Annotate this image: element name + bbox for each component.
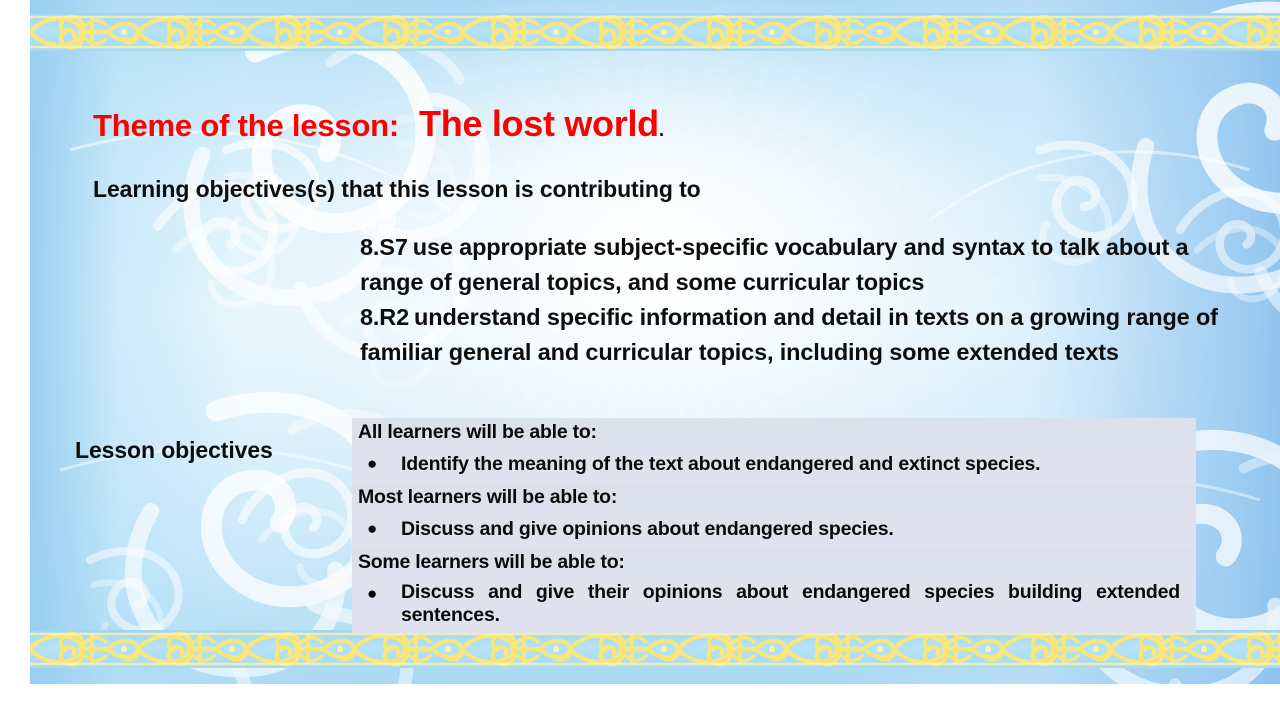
- most-learners-bullet-text: Discuss and give opinions about endanger…: [401, 516, 1180, 542]
- curriculum-objective-2-code: 8.R2: [360, 304, 409, 330]
- table-row-all-learners-heading: All learners will be able to:: [352, 418, 1196, 447]
- some-learners-bullet-row: ● Discuss and give their opinions about …: [358, 578, 1190, 631]
- theme-label: Theme of the lesson:: [93, 108, 399, 143]
- lesson-objectives-table: All learners will be able to: ● Identify…: [352, 418, 1196, 633]
- bullet-icon: ●: [358, 516, 401, 542]
- bullet-icon: ●: [358, 451, 401, 477]
- table-row-all-learners-bullet: ● Identify the meaning of the text about…: [352, 447, 1196, 483]
- theme-of-the-lesson-line: Theme of the lesson:The lost world.: [93, 103, 664, 145]
- curriculum-objective-1-text: use appropriate subject-specific vocabul…: [360, 234, 1188, 295]
- curriculum-objective-1-code: 8.S7: [360, 234, 408, 260]
- all-learners-heading: All learners will be able to:: [358, 419, 1190, 445]
- curriculum-objective-1: 8.S7use appropriate subject-specific voc…: [360, 230, 1244, 300]
- bullet-icon: ●: [358, 581, 401, 607]
- curriculum-objectives-block: 8.S7use appropriate subject-specific voc…: [360, 230, 1244, 370]
- curriculum-objective-2: 8.R2understand specific information and …: [360, 300, 1244, 370]
- slide-canvas: Theme of the lesson:The lost world. Lear…: [30, 0, 1280, 684]
- most-learners-heading: Most learners will be able to:: [358, 484, 1190, 510]
- table-row-some-learners-bullet: ● Discuss and give their opinions about …: [352, 577, 1196, 633]
- top-ornamental-border: [30, 13, 1280, 51]
- lesson-objectives-label: Lesson objectives: [75, 437, 273, 464]
- bottom-ornamental-border: [30, 630, 1280, 668]
- table-row-most-learners-heading: Most learners will be able to:: [352, 483, 1196, 512]
- theme-value: The lost world: [419, 103, 659, 144]
- top-border-kazakh-pattern: [30, 13, 1280, 51]
- some-learners-bullet-text: Discuss and give their opinions about en…: [401, 581, 1180, 627]
- some-learners-heading: Some learners will be able to:: [358, 549, 1190, 575]
- theme-period: .: [659, 120, 664, 141]
- most-learners-bullet-row: ● Discuss and give opinions about endang…: [358, 513, 1190, 546]
- all-learners-bullet-row: ● Identify the meaning of the text about…: [358, 448, 1190, 481]
- curriculum-objective-2-text: understand specific information and deta…: [360, 304, 1218, 365]
- table-row-some-learners-heading: Some learners will be able to:: [352, 548, 1196, 577]
- bottom-border-kazakh-pattern: [30, 630, 1280, 668]
- learning-objectives-heading: Learning objectives(s) that this lesson …: [93, 176, 701, 203]
- table-row-most-learners-bullet: ● Discuss and give opinions about endang…: [352, 512, 1196, 548]
- all-learners-bullet-text: Identify the meaning of the text about e…: [401, 451, 1180, 477]
